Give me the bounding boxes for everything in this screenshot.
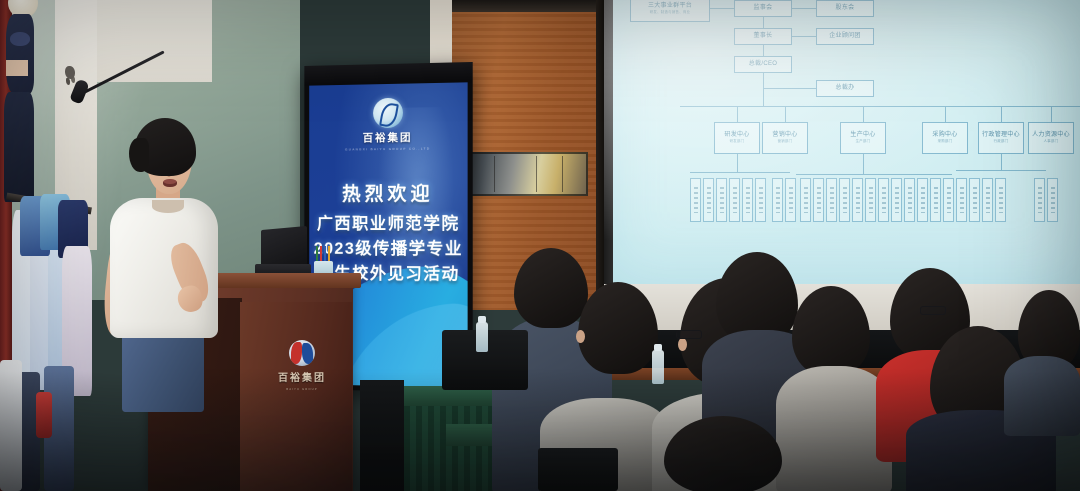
chart-leaf-box (878, 178, 889, 222)
chart-leaf-box (772, 178, 783, 222)
chart-node-label: 总裁/CEO (749, 61, 777, 68)
baiyu-group-logo-icon (373, 98, 403, 128)
chart-leaf-box (729, 178, 740, 222)
chart-leaf-box (956, 178, 967, 222)
chart-node-n7: 总裁办 (816, 80, 874, 97)
chart-node-n2: 监事会 (734, 0, 792, 17)
chart-edge (792, 8, 816, 9)
chart-leaf-bus (690, 172, 790, 173)
chart-leaf-box (852, 178, 863, 222)
chart-node-label: 企业顾问团 (829, 33, 861, 40)
chart-node-sub: 生产部门 (856, 140, 871, 144)
chart-leaf-box (826, 178, 837, 222)
baiyu-group-emblem-icon (289, 340, 315, 366)
chart-edge (863, 106, 864, 122)
chart-node-label: 三大事业群平台 (648, 3, 692, 10)
chart-node-label: 股东会 (836, 5, 855, 12)
presenter-collar (152, 200, 184, 213)
slide-line-1: 广西职业师范学院 (309, 212, 467, 237)
chart-node-sub: 行政部门 (994, 140, 1009, 144)
chart-node-label: 监事会 (754, 5, 773, 12)
garment-display-rack (0, 0, 92, 491)
chart-leaf-box (1047, 178, 1058, 222)
chart-trunk-bus (680, 106, 1080, 107)
chart-leaf-box (813, 178, 824, 222)
chart-edge (763, 17, 764, 28)
water-bottle (652, 350, 664, 384)
bottle-cap (654, 344, 662, 351)
chart-leaf-box (995, 178, 1006, 222)
chart-leaf-box (969, 178, 980, 222)
chart-leaf-box (839, 178, 850, 222)
mannequin-legs (4, 92, 34, 202)
hanging-garment (0, 360, 22, 491)
chart-node-n5: 企业顾问团 (816, 28, 874, 45)
panel-glass-strip (462, 152, 588, 196)
chart-node-n1: 三大事业群平台 研发、制造与销售、商业 (630, 0, 710, 22)
chart-node-sub: 研发部门 (730, 140, 745, 144)
chart-edge (763, 88, 764, 106)
chart-leaf-box (943, 178, 954, 222)
desk-dark-row (360, 380, 404, 491)
chart-node-label: 生产中心 (850, 132, 875, 139)
chart-edge (710, 8, 734, 9)
presenter-hair (134, 118, 196, 176)
chart-edge (785, 106, 786, 122)
chart-node-label: 研发中心 (724, 132, 749, 139)
wall-upper-panel (92, 0, 212, 82)
mouth-speaking (163, 179, 177, 187)
chart-node-n12: 行政管理中心 行政部门 (978, 122, 1024, 154)
mannequin-torso (6, 14, 34, 94)
chart-leaf-bus (796, 174, 952, 175)
chart-leaf-box (982, 178, 993, 222)
projection-screen: 三大事业群平台 研发、制造与销售、商业 监事会 股东会 董事长 企业顾问团 总裁… (604, 0, 1080, 284)
chart-leaf-box (716, 178, 727, 222)
chart-leaf-box (755, 178, 766, 222)
eyeglasses-icon (920, 306, 946, 315)
bottle-cap (478, 316, 486, 323)
chart-node-sub: 人事部门 (1044, 140, 1059, 144)
chart-edge (763, 45, 764, 56)
chart-node-n4: 董事长 (734, 28, 792, 45)
chart-leaf-bus (956, 170, 1046, 171)
slide-headline: 热烈欢迎 (309, 178, 467, 206)
podium-front (240, 302, 352, 491)
panel-edge (596, 0, 604, 310)
chart-leaf-box (742, 178, 753, 222)
hanging-garment-red (36, 392, 52, 438)
chart-edge (945, 106, 946, 122)
chart-leaf-box (690, 178, 701, 222)
podium-brand-pinyin: BAIYU GROUP (266, 387, 338, 391)
ear (678, 338, 687, 351)
chart-node-sub: 研发、制造与销售、商业 (650, 11, 691, 15)
presenter-jeans (122, 326, 204, 412)
mannequin-bow (10, 32, 30, 46)
chart-edge (863, 154, 864, 174)
chart-leaf-box (800, 178, 811, 222)
chart-edge (1001, 106, 1002, 122)
chart-node-n3: 股东会 (816, 0, 874, 17)
chart-node-n13: 人力资源中心 人事部门 (1028, 122, 1074, 154)
chart-leaf-box (891, 178, 902, 222)
chart-edge (1051, 106, 1052, 122)
ear (576, 330, 585, 343)
chart-leaf-box (785, 178, 796, 222)
chart-leaf-box (865, 178, 876, 222)
chart-edge (737, 106, 738, 122)
chart-node-label: 人力资源中心 (1032, 132, 1070, 139)
podium-brand-name: 百裕集团 (266, 369, 338, 384)
chart-node-label: 营销中心 (772, 132, 797, 139)
chart-leaf-box (904, 178, 915, 222)
chart-node-sub: 采购部门 (938, 140, 953, 144)
eyeglasses-icon (676, 330, 702, 339)
chart-node-n11: 采购中心 采购部门 (922, 122, 968, 154)
chart-node-n9: 营销中心 营销部门 (762, 122, 808, 154)
chart-leaf-box (1034, 178, 1045, 222)
chart-edge (763, 73, 764, 89)
audience-body (776, 366, 892, 491)
chart-node-label: 总裁办 (836, 85, 855, 92)
photo-scene: 三大事业群平台 研发、制造与销售、商业 监事会 股东会 董事长 企业顾问团 总裁… (0, 0, 1080, 491)
chart-leaf-box (917, 178, 928, 222)
chart-node-sub: 营销部门 (778, 140, 793, 144)
slide-brand-name: 百裕集团 (309, 129, 467, 146)
mannequin-midriff (6, 60, 28, 76)
chart-node-n10: 生产中心 生产部门 (840, 122, 886, 154)
chart-leaf-box (930, 178, 941, 222)
screen-left-frame (604, 0, 613, 284)
chart-leaf-box (703, 178, 714, 222)
chart-edge (737, 154, 738, 172)
chart-edge (792, 36, 816, 37)
slide-brand-block: 百裕集团 GUANGXI BAIYU GROUP CO.,LTD (309, 96, 467, 151)
chart-node-label: 采购中心 (932, 132, 957, 139)
chart-node-n6: 总裁/CEO (734, 56, 792, 73)
chart-edge (763, 88, 816, 89)
chart-node-label: 董事长 (754, 33, 773, 40)
audience-body (1004, 356, 1080, 436)
podium-brand-block: 百裕集团 BAIYU GROUP (266, 340, 338, 391)
panel-top-seam (452, 0, 598, 12)
chart-edge (1001, 154, 1002, 170)
chart-node-n8: 研发中心 研发部门 (714, 122, 760, 154)
chart-node-label: 行政管理中心 (982, 132, 1020, 139)
chair-back (538, 448, 618, 491)
water-bottle (476, 322, 488, 352)
